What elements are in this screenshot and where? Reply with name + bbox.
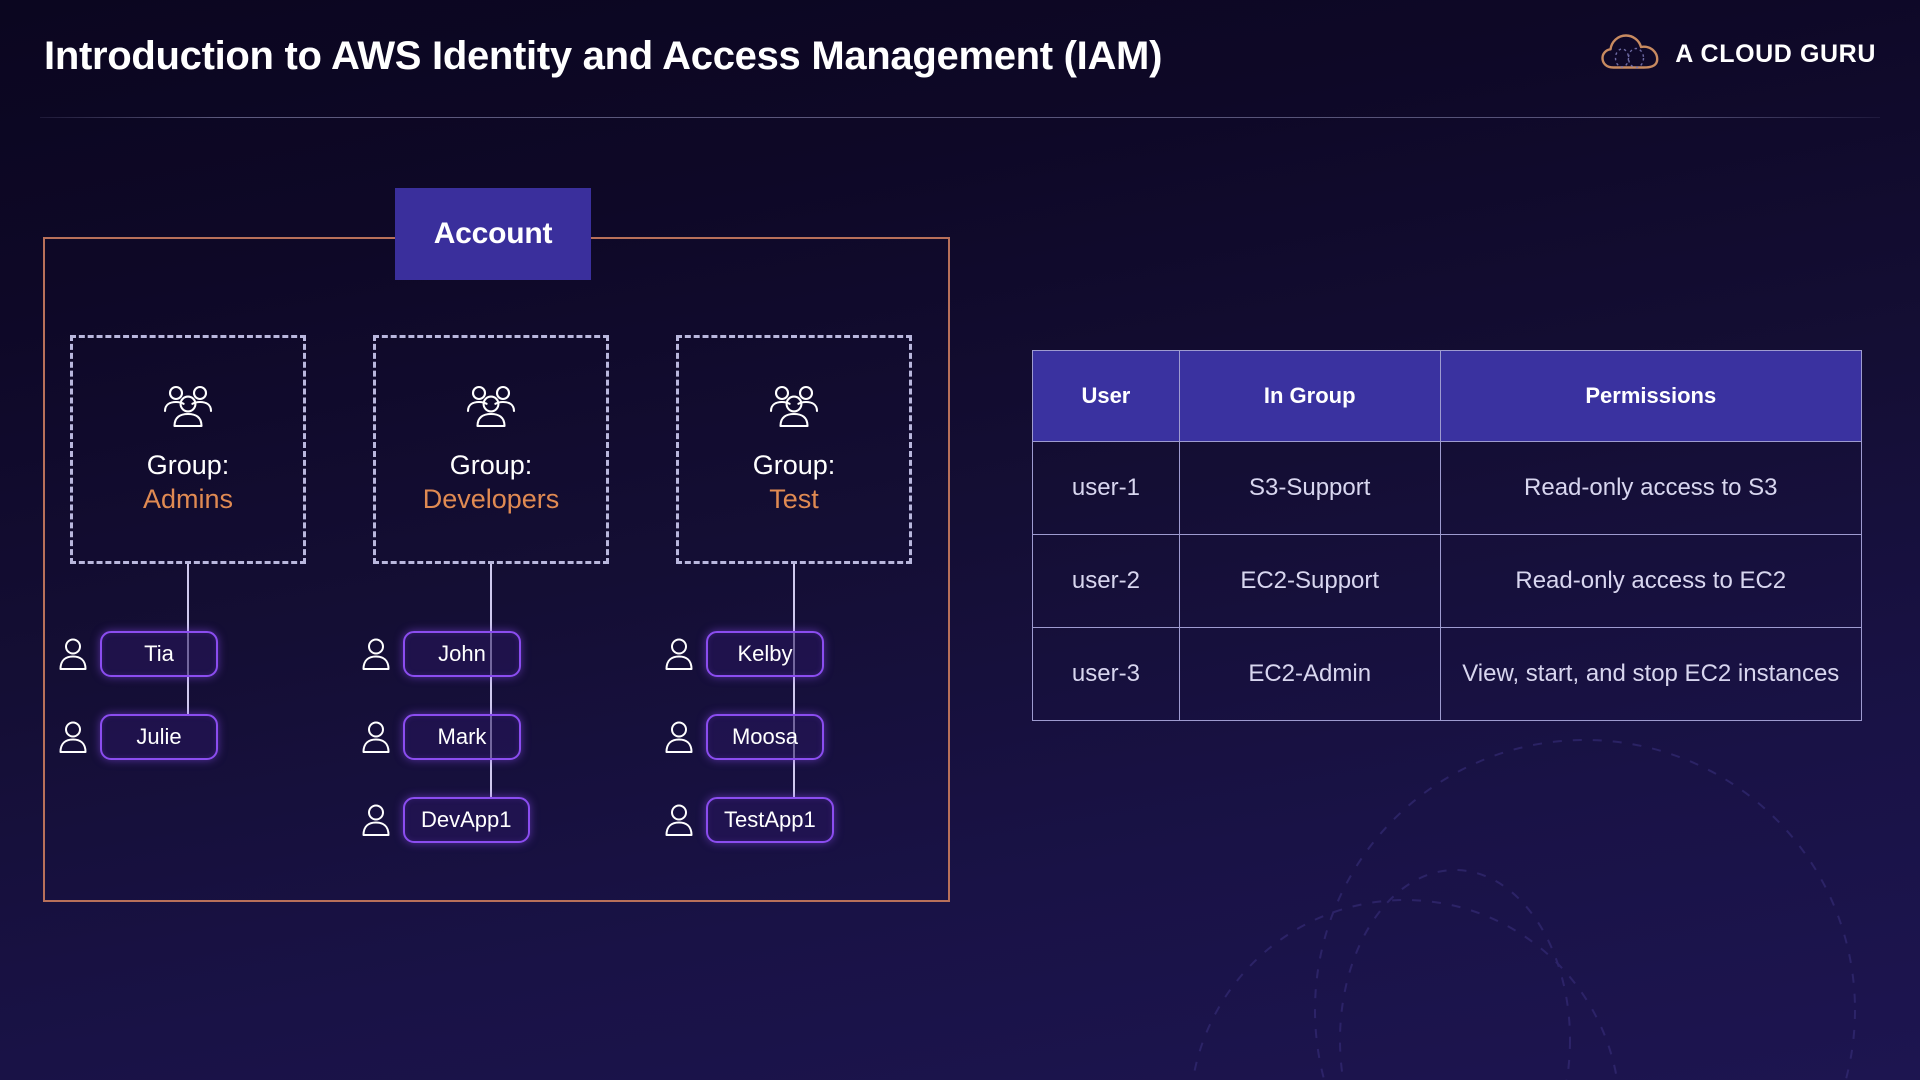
table-header-row: User In Group Permissions (1033, 351, 1862, 442)
brand-logo: A CLOUD GURU (1600, 33, 1876, 75)
user-row: Kelby (664, 631, 824, 677)
page-title: Introduction to AWS Identity and Access … (44, 34, 1162, 79)
table-head: User In Group Permissions (1033, 351, 1862, 442)
cell-user: user-2 (1033, 535, 1180, 628)
group-box-admins[interactable]: Group:Admins (70, 335, 306, 564)
cell-user: user-1 (1033, 442, 1180, 535)
group-label-prefix: Group: (147, 450, 230, 482)
user-row: Moosa (664, 714, 824, 760)
brand-name: A CLOUD GURU (1675, 40, 1876, 69)
user-row: Mark (361, 714, 521, 760)
person-icon (361, 637, 391, 671)
table-row: user-3EC2-AdminView, start, and stop EC2… (1033, 628, 1862, 721)
cell-in-group: EC2-Support (1179, 535, 1440, 628)
user-row: TestApp1 (664, 797, 834, 843)
user-chip[interactable]: Tia (100, 631, 218, 677)
person-icon (361, 720, 391, 754)
table-body: user-1S3-SupportRead-only access to S3us… (1033, 442, 1862, 721)
cell-user: user-3 (1033, 628, 1180, 721)
group-label-name: Developers (423, 484, 560, 516)
person-icon (664, 720, 694, 754)
cell-permissions: View, start, and stop EC2 instances (1440, 628, 1861, 721)
person-icon (664, 637, 694, 671)
group-of-people-icon (767, 384, 821, 430)
group-label-name: Admins (143, 484, 233, 516)
account-label-text: Account (434, 217, 553, 251)
column-header-permissions: Permissions (1440, 351, 1861, 442)
permissions-table: User In Group Permissions user-1S3-Suppo… (1032, 350, 1862, 721)
user-row: Julie (58, 714, 218, 760)
user-chip[interactable]: John (403, 631, 521, 677)
person-icon (361, 803, 391, 837)
cell-in-group: S3-Support (1179, 442, 1440, 535)
cell-in-group: EC2-Admin (1179, 628, 1440, 721)
column-header-in-group: In Group (1179, 351, 1440, 442)
user-chip[interactable]: Julie (100, 714, 218, 760)
user-chip[interactable]: TestApp1 (706, 797, 834, 843)
user-chip[interactable]: Kelby (706, 631, 824, 677)
cell-permissions: Read-only access to EC2 (1440, 535, 1861, 628)
person-icon (664, 803, 694, 837)
user-row: Tia (58, 631, 218, 677)
group-label-name: Test (769, 484, 819, 516)
account-label: Account (395, 188, 591, 280)
user-row: John (361, 631, 521, 677)
group-of-people-icon (464, 384, 518, 430)
group-connector-line (793, 564, 795, 797)
person-icon (58, 637, 88, 671)
page-header: Introduction to AWS Identity and Access … (0, 0, 1920, 118)
user-row: DevApp1 (361, 797, 530, 843)
cloud-outline-icon (1600, 33, 1660, 75)
group-box-test[interactable]: Group:Test (676, 335, 912, 564)
group-box-developers[interactable]: Group:Developers (373, 335, 609, 564)
cell-permissions: Read-only access to S3 (1440, 442, 1861, 535)
person-icon (58, 720, 88, 754)
group-label-prefix: Group: (753, 450, 836, 482)
group-label-prefix: Group: (450, 450, 533, 482)
table-row: user-2EC2-SupportRead-only access to EC2 (1033, 535, 1862, 628)
group-of-people-icon (161, 384, 215, 430)
header-divider (40, 117, 1880, 118)
user-chip[interactable]: Mark (403, 714, 521, 760)
column-header-user: User (1033, 351, 1180, 442)
user-chip[interactable]: DevApp1 (403, 797, 530, 843)
table-row: user-1S3-SupportRead-only access to S3 (1033, 442, 1862, 535)
group-connector-line (490, 564, 492, 797)
user-chip[interactable]: Moosa (706, 714, 824, 760)
